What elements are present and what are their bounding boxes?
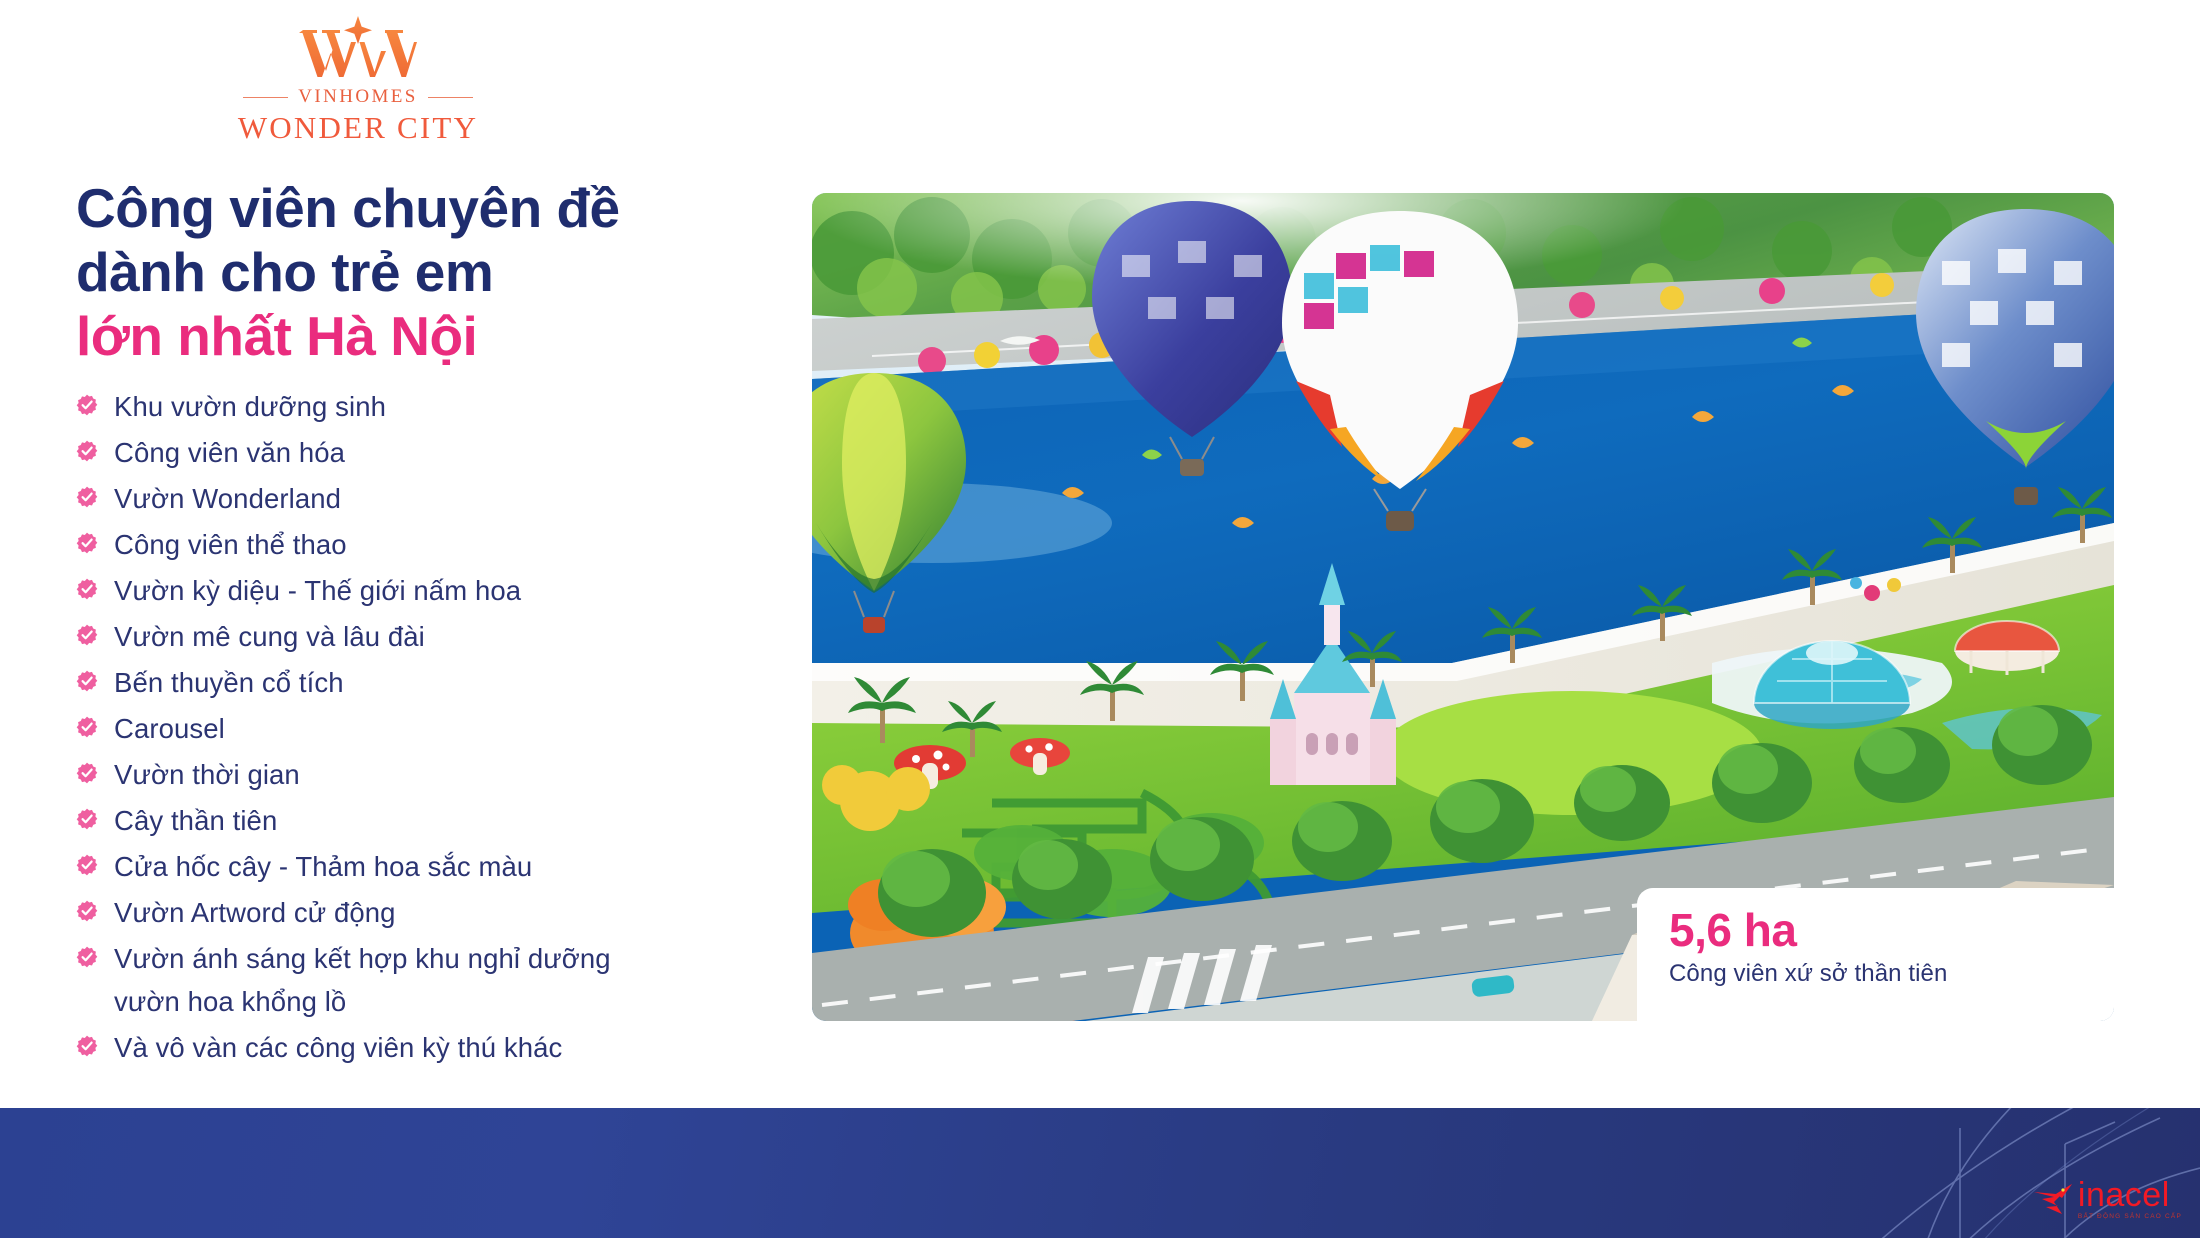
list-item-label: Công viên văn hóa bbox=[114, 431, 345, 474]
check-circle-icon bbox=[76, 523, 98, 554]
list-item-label: Bến thuyền cổ tích bbox=[114, 661, 344, 704]
inacel-logo: inacel BẤT ĐỘNG SẢN CAO CẤP bbox=[2032, 1178, 2182, 1218]
title-line-2: dành cho trẻ em bbox=[76, 241, 796, 305]
list-item: Khu vườn dưỡng sinh bbox=[76, 385, 816, 428]
list-item-label: Và vô vàn các công viên kỳ thú khác bbox=[114, 1026, 562, 1069]
list-item: Công viên văn hóa bbox=[76, 431, 816, 474]
list-item-label: Vườn ánh sáng kết hợp khu nghỉ dưỡng vườ… bbox=[114, 937, 611, 1023]
title-line-1: Công viên chuyên đề bbox=[76, 177, 796, 241]
list-item: Và vô vàn các công viên kỳ thú khác bbox=[76, 1026, 816, 1069]
list-item-label: Vườn Artword cử động bbox=[114, 891, 396, 934]
list-item-label: Vườn Wonderland bbox=[114, 477, 341, 520]
footer-decorative-arcs bbox=[0, 1108, 2200, 1238]
list-item-label: Vườn mê cung và lâu đài bbox=[114, 615, 425, 658]
list-item-label: Cửa hốc cây - Thảm hoa sắc màu bbox=[114, 845, 532, 888]
check-circle-icon bbox=[76, 615, 98, 646]
list-item-label: Công viên thể thao bbox=[114, 523, 347, 566]
list-item: Vườn mê cung và lâu đài bbox=[76, 615, 816, 658]
feature-list: Khu vườn dưỡng sinhCông viên văn hóaVườn… bbox=[76, 385, 816, 1072]
list-item: Carousel bbox=[76, 707, 816, 750]
inacel-word: inacel bbox=[2078, 1179, 2170, 1211]
logo-brand-text: VINHOMES bbox=[298, 86, 417, 108]
list-item-label: Carousel bbox=[114, 707, 225, 750]
check-circle-icon bbox=[76, 891, 98, 922]
check-circle-icon bbox=[76, 431, 98, 462]
list-item: Vườn thời gian bbox=[76, 753, 816, 796]
list-item: Công viên thể thao bbox=[76, 523, 816, 566]
inacel-wordmark: inacel BẤT ĐỘNG SẢN CAO CẤP bbox=[2078, 1179, 2182, 1220]
inacel-bird-icon bbox=[2032, 1178, 2076, 1218]
list-item: Vườn ánh sáng kết hợp khu nghỉ dưỡng vườ… bbox=[76, 937, 816, 1023]
logo-city-text: WONDER CITY bbox=[238, 112, 478, 143]
badge-number: 5,6 ha bbox=[1669, 906, 2114, 954]
check-circle-icon bbox=[76, 385, 98, 416]
logo-rule-left bbox=[243, 97, 288, 98]
list-item-label: Vườn thời gian bbox=[114, 753, 300, 796]
check-circle-icon bbox=[76, 753, 98, 784]
list-item: Bến thuyền cổ tích bbox=[76, 661, 816, 704]
check-circle-icon bbox=[76, 937, 98, 968]
list-item-label: Vườn kỳ diệu - Thế giới nấm hoa bbox=[114, 569, 521, 612]
vinhomes-wonder-city-logo: VINHOMES WONDER CITY bbox=[243, 16, 473, 141]
slide-root: VINHOMES WONDER CITY Công viên chuyên đề… bbox=[0, 0, 2200, 1238]
logo-brand-row: VINHOMES bbox=[243, 86, 473, 108]
logo-rule-right bbox=[428, 97, 473, 98]
check-circle-icon bbox=[76, 1026, 98, 1057]
check-circle-icon bbox=[76, 845, 98, 876]
badge-subtitle: Công viên xứ sở thần tiên bbox=[1669, 960, 2114, 988]
footer-bar: inacel BẤT ĐỘNG SẢN CAO CẤP bbox=[0, 1108, 2200, 1238]
check-circle-icon bbox=[76, 799, 98, 830]
list-item: Cửa hốc cây - Thảm hoa sắc màu bbox=[76, 845, 816, 888]
inacel-tagline: BẤT ĐỘNG SẢN CAO CẤP bbox=[2078, 1213, 2182, 1220]
list-item: Vườn Wonderland bbox=[76, 477, 816, 520]
list-item: Cây thần tiên bbox=[76, 799, 816, 842]
list-item: Vườn Artword cử động bbox=[76, 891, 816, 934]
list-item-label: Khu vườn dưỡng sinh bbox=[114, 385, 386, 428]
check-circle-icon bbox=[76, 661, 98, 692]
page-title: Công viên chuyên đề dành cho trẻ em lớn … bbox=[76, 177, 796, 368]
list-item-label: Cây thần tiên bbox=[114, 799, 277, 842]
check-circle-icon bbox=[76, 707, 98, 738]
vinhomes-crown-w-icon bbox=[299, 16, 417, 78]
check-circle-icon bbox=[76, 477, 98, 508]
check-circle-icon bbox=[76, 569, 98, 600]
area-badge: 5,6 ha Công viên xứ sở thần tiên bbox=[1637, 888, 2114, 1021]
list-item: Vườn kỳ diệu - Thế giới nấm hoa bbox=[76, 569, 816, 612]
title-line-3: lớn nhất Hà Nội bbox=[76, 305, 796, 369]
